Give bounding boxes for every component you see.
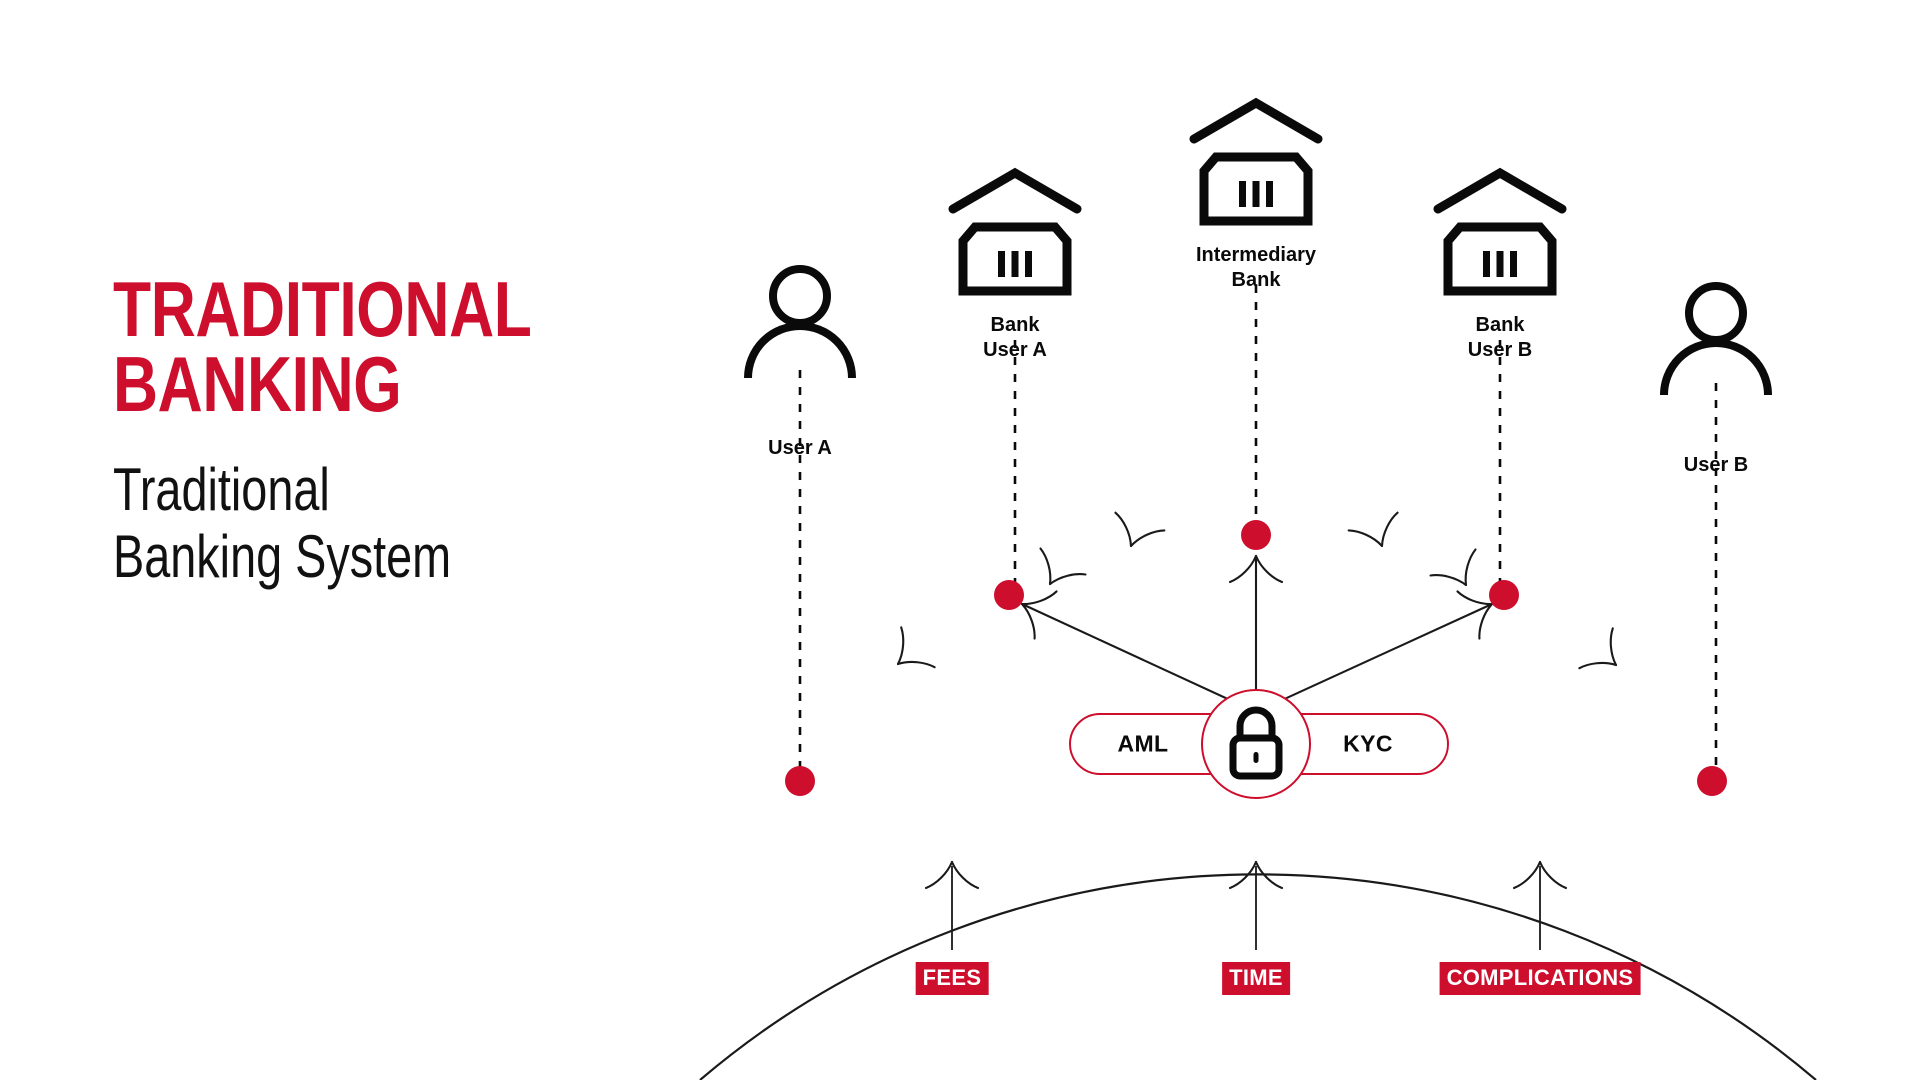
node-dot-user-a — [785, 766, 815, 796]
node-dot-user-b — [1697, 766, 1727, 796]
node-dot-bank-user-b — [1489, 580, 1519, 610]
node-label-bank-user-a: Bank User A — [983, 313, 1047, 363]
lock-badge-circle — [1202, 690, 1310, 798]
link-lock-to-bank-b — [1256, 604, 1492, 712]
person-icon — [748, 269, 852, 378]
node-label-user-a: User A — [768, 436, 832, 461]
badge-complications: COMPLICATIONS — [1440, 962, 1641, 995]
node-label-intermediary-bank: Intermediary Bank — [1196, 243, 1316, 293]
bank-icon — [1438, 173, 1562, 291]
traditional-banking-diagram — [0, 0, 1920, 1080]
node-label-bank-user-b: Bank User B — [1468, 313, 1532, 363]
node-label-user-b: User B — [1684, 453, 1748, 478]
link-lock-to-bank-a — [1022, 604, 1256, 712]
compliance-links — [1022, 556, 1492, 712]
aml-label[interactable]: AML — [1117, 731, 1168, 758]
badge-time: TIME — [1222, 962, 1290, 995]
kyc-label[interactable]: KYC — [1343, 731, 1393, 758]
bank-icon — [953, 173, 1077, 291]
slide-canvas: TRADITIONAL BANKING Traditional Banking … — [0, 0, 1920, 1080]
badge-fees: FEES — [916, 962, 989, 995]
node-dot-bank-user-a — [994, 580, 1024, 610]
person-icon — [1664, 286, 1768, 395]
node-dot-intermediary — [1241, 520, 1271, 550]
bank-icon — [1194, 103, 1318, 221]
